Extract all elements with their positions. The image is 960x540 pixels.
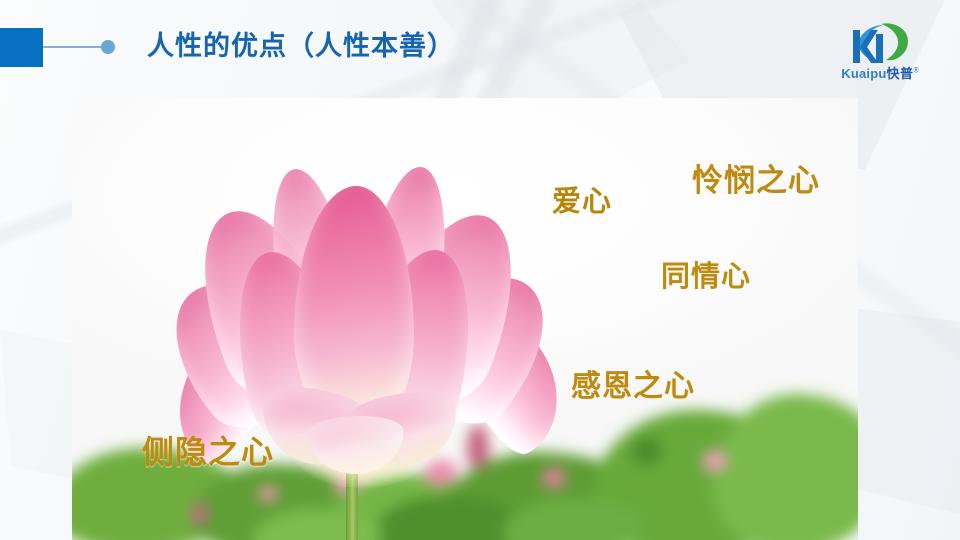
kuaipu-logo: Kuaipu快普® bbox=[822, 22, 938, 80]
header-accent-square bbox=[0, 28, 43, 67]
label-lianmin: 怜悯之心 bbox=[692, 155, 820, 200]
label-ceyin: 侧隐之心 bbox=[142, 427, 274, 473]
label-tongqing: 同情心 bbox=[661, 253, 751, 295]
registered-mark-icon: ® bbox=[914, 68, 919, 75]
logo-text-en: Kuaipu bbox=[841, 66, 886, 81]
header-bullet-dot bbox=[101, 40, 115, 54]
slide-canvas: 人性的优点（人性本善） Kuaipu快普® bbox=[0, 0, 960, 540]
lotus-flower-graphic bbox=[142, 158, 572, 540]
logo-wordmark: Kuaipu快普® bbox=[822, 63, 938, 82]
logo-mark-icon bbox=[850, 22, 912, 64]
label-aixin: 爱心 bbox=[552, 178, 612, 220]
header-connector-line bbox=[43, 46, 105, 48]
logo-text-cn: 快普 bbox=[887, 66, 914, 81]
label-ganen: 感恩之心 bbox=[571, 361, 695, 405]
page-title: 人性的优点（人性本善） bbox=[147, 24, 455, 63]
